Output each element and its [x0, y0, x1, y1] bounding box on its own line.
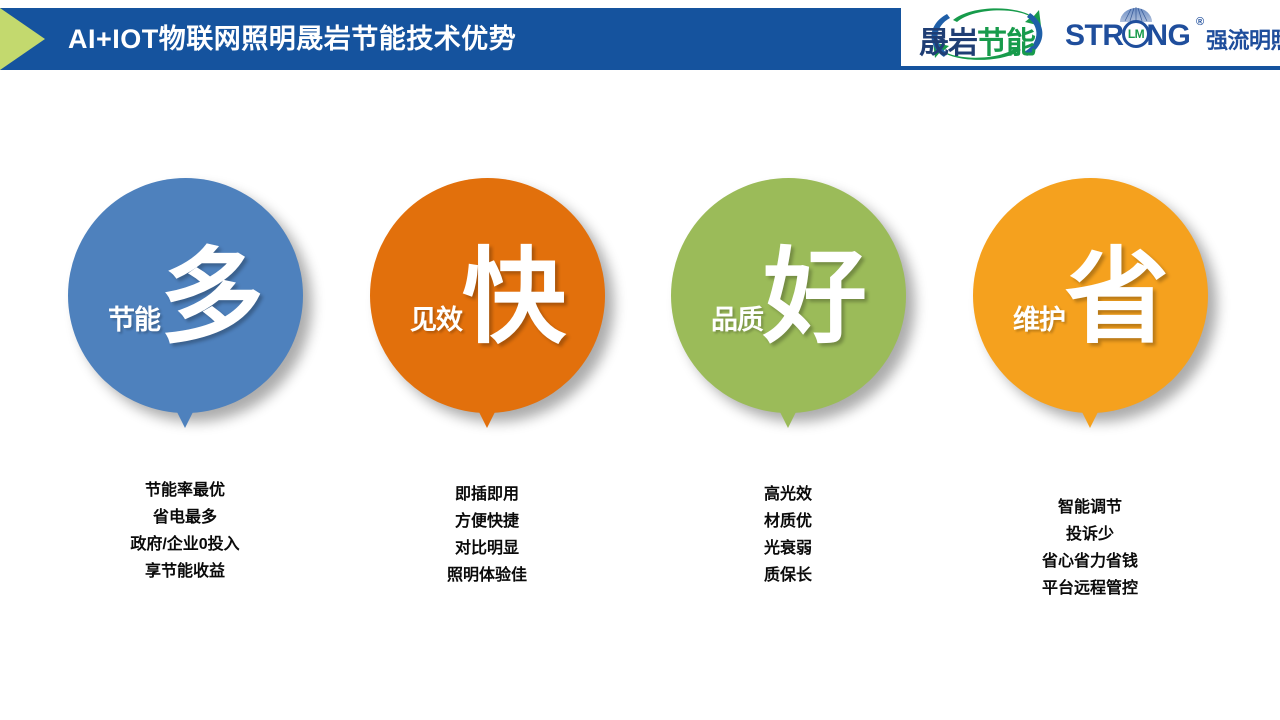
- bubble-4: 维护 省: [973, 178, 1208, 413]
- bubble-small-label: 品质: [711, 298, 763, 337]
- bubble-small-label: 见效: [410, 298, 462, 337]
- advantage-item: 节能 多: [35, 178, 335, 413]
- caption-line: 方便快捷: [337, 508, 637, 535]
- bubble-small-label: 节能: [108, 298, 160, 337]
- caption-line: 节能率最优: [35, 477, 335, 504]
- caption-line: 享节能收益: [35, 558, 335, 585]
- caption-line: 智能调节: [940, 494, 1240, 521]
- caption-line: 省电最多: [35, 504, 335, 531]
- caption-line: 平台远程管控: [940, 575, 1240, 602]
- bubble-big-label: 省: [1065, 246, 1167, 350]
- caption-list-4: 智能调节 投诉少 省心省力省钱 平台远程管控: [940, 494, 1240, 602]
- bubble-1: 节能 多: [68, 178, 303, 413]
- advantage-item: 品质 好: [638, 178, 938, 413]
- bubble-label: 维护 省: [973, 178, 1208, 413]
- bubble-big-label: 多: [160, 246, 262, 350]
- bubble-label: 节能 多: [68, 178, 303, 413]
- caption-line: 质保长: [638, 562, 938, 589]
- bubble-label: 见效 快: [370, 178, 605, 413]
- caption-line: 材质优: [638, 508, 938, 535]
- caption-list-3: 高光效 材质优 光衰弱 质保长: [638, 481, 938, 589]
- caption-line: 高光效: [638, 481, 938, 508]
- caption-line: 光衰弱: [638, 535, 938, 562]
- bubble-small-label: 维护: [1013, 298, 1065, 337]
- advantage-item: 见效 快: [337, 178, 637, 413]
- bubble-2: 见效 快: [370, 178, 605, 413]
- caption-list-2: 即插即用 方便快捷 对比明显 照明体验佳: [337, 481, 637, 589]
- caption-line: 政府/企业0投入: [35, 531, 335, 558]
- caption-line: 即插即用: [337, 481, 637, 508]
- advantage-item: 维护 省: [940, 178, 1240, 413]
- advantage-bubbles: 节能 多 见效 快 品质 好 维护: [0, 0, 1280, 720]
- caption-line: 投诉少: [940, 521, 1240, 548]
- caption-line: 省心省力省钱: [940, 548, 1240, 575]
- bubble-3: 品质 好: [671, 178, 906, 413]
- caption-line: 照明体验佳: [337, 562, 637, 589]
- bubble-label: 品质 好: [671, 178, 906, 413]
- bubble-big-label: 快: [462, 246, 564, 350]
- bubble-big-label: 好: [763, 246, 865, 350]
- caption-line: 对比明显: [337, 535, 637, 562]
- caption-list-1: 节能率最优 省电最多 政府/企业0投入 享节能收益: [35, 477, 335, 585]
